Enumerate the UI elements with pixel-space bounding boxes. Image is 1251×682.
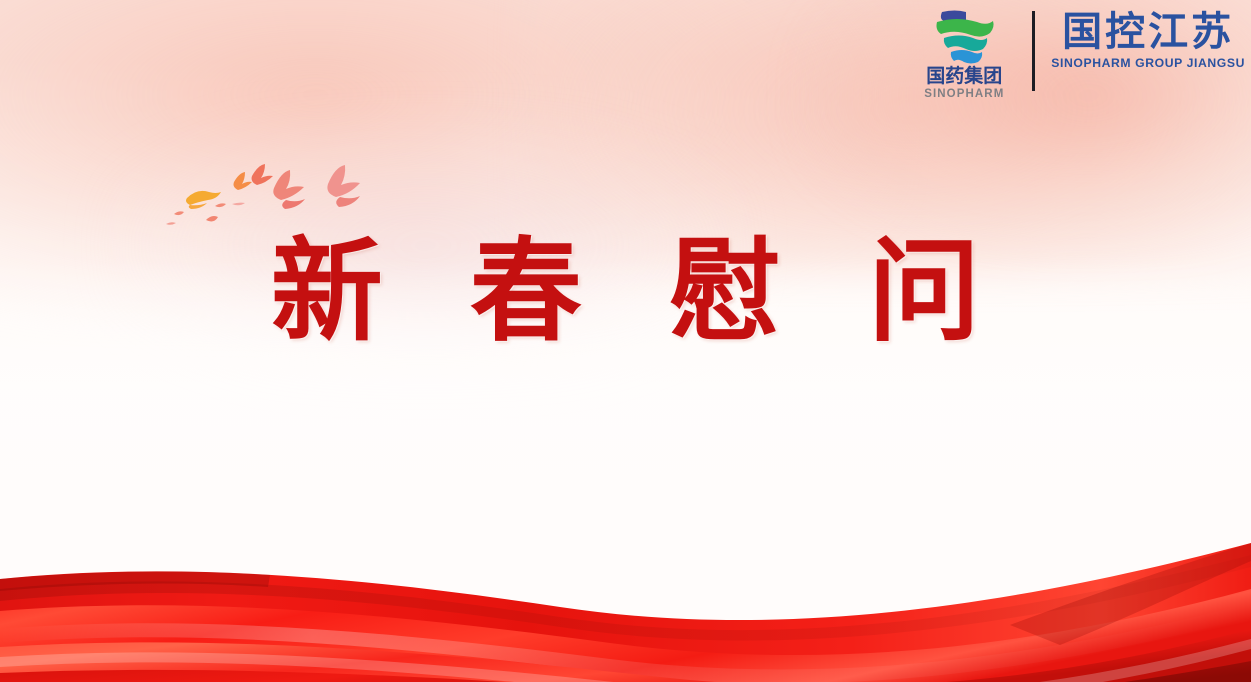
sinopharm-logo: 国药集团 SINOPHARM — [912, 8, 1028, 101]
sinopharm-en-label: SINOPHARM — [924, 89, 1004, 101]
sinopharm-cn-label: 国药集团 — [926, 67, 1002, 86]
jiangsu-cn-label: 国控江苏 — [1062, 12, 1234, 53]
red-silk-ribbon-wave — [0, 537, 1251, 682]
logo-lockup: 国药集团 SINOPHARM 国控江苏 SINOPHARM GROUP JIAN… — [912, 8, 1245, 101]
logo-divider — [1032, 11, 1035, 91]
jiangsu-en-label: SINOPHARM GROUP JIANGSU — [1051, 57, 1245, 69]
sinopharm-spiral-mark-icon — [925, 8, 1003, 66]
slide-canvas: 国药集团 SINOPHARM 国控江苏 SINOPHARM GROUP JIAN… — [0, 0, 1251, 682]
page-title: 新 春 慰 问 — [0, 232, 1251, 353]
headline-text: 新 春 慰 问 — [243, 232, 1008, 353]
jiangsu-logo: 国控江苏 SINOPHARM GROUP JIANGSU — [1051, 8, 1245, 69]
ribbon-svg — [0, 537, 1251, 682]
